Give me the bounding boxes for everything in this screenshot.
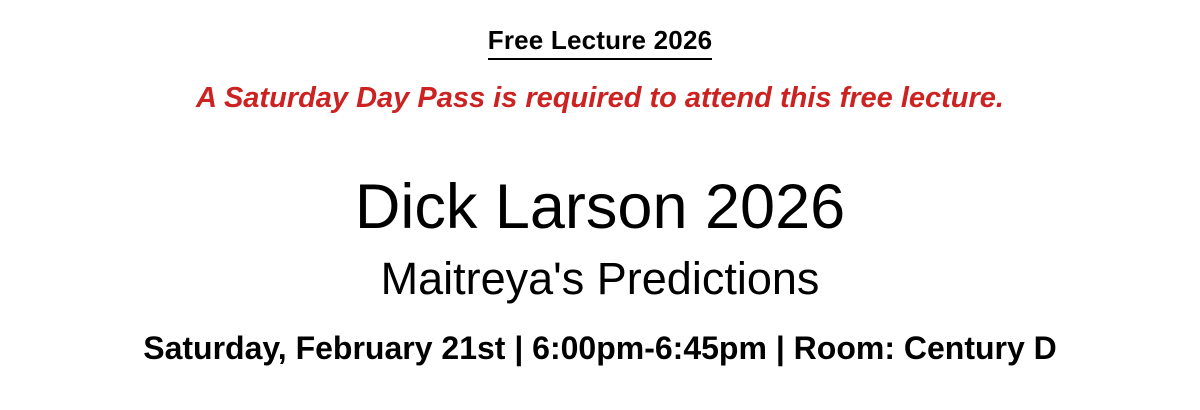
event-details-line: Saturday, February 21st | 6:00pm-6:45pm … [0, 328, 1200, 368]
lecture-flyer: Free Lecture 2026 A Saturday Day Pass is… [0, 0, 1200, 410]
flyer-eyebrow-label: Free Lecture 2026 [488, 24, 713, 60]
flyer-eyebrow-heading: Free Lecture 2026 [0, 24, 1200, 60]
day-pass-notice: A Saturday Day Pass is required to atten… [0, 80, 1200, 116]
event-title: Dick Larson 2026 [0, 172, 1200, 242]
event-subtitle: Maitreya's Predictions [0, 253, 1200, 305]
